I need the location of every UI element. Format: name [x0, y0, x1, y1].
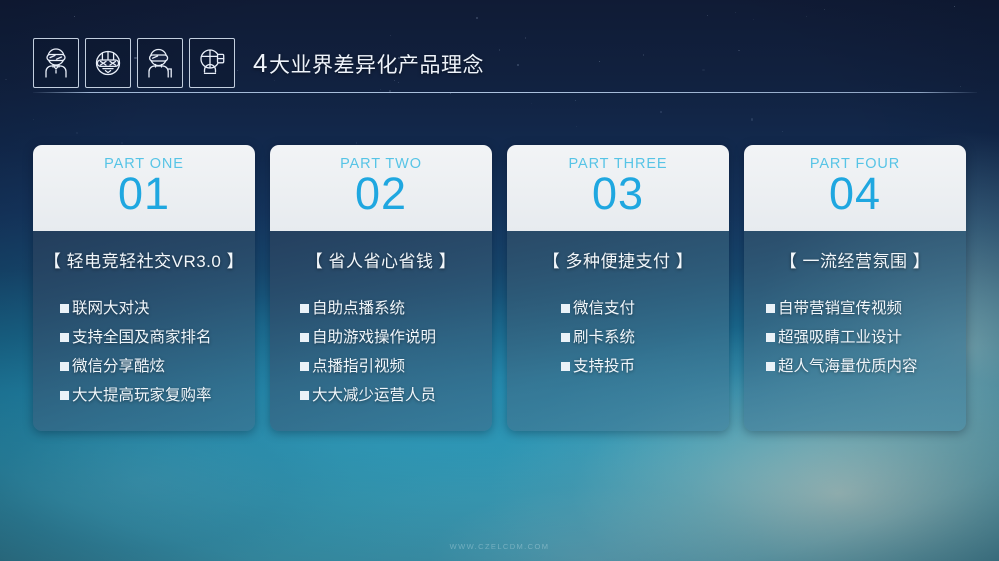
list-item: 自带营销宣传视频: [766, 294, 966, 323]
bullet-square-icon: [766, 362, 775, 371]
card-body-4: 【 一流经营氛围 】 自带营销宣传视频 超强吸睛工业设计 超人气海量优质内容: [744, 231, 966, 431]
card-header-3: PART THREE 03: [507, 145, 729, 231]
bullet-text: 点播指引视频: [312, 352, 405, 381]
card-title: 【 一流经营氛围 】: [744, 247, 966, 272]
bullet-square-icon: [766, 333, 775, 342]
feature-card-2[interactable]: PART TWO 02 【 省人省心省钱 】 自助点播系统 自助游戏操作说明 点…: [270, 145, 492, 431]
bullet-text: 微信分享酷炫: [72, 352, 165, 381]
page-title-number: 4: [253, 48, 268, 78]
list-item: 微信支付: [561, 294, 729, 323]
list-item: 刷卡系统: [561, 323, 729, 352]
bullet-text: 大大提高玩家复购率: [72, 381, 212, 410]
vr-goggles-face-icon: [85, 38, 131, 88]
bullet-text: 超强吸睛工业设计: [778, 323, 902, 352]
list-item: 大大提高玩家复购率: [60, 381, 255, 410]
bullet-square-icon: [561, 362, 570, 371]
bullet-square-icon: [300, 362, 309, 371]
bullet-square-icon: [561, 304, 570, 313]
list-item: 点播指引视频: [300, 352, 492, 381]
card-body-1: 【 轻电竞轻社交VR3.0 】 联网大对决 支持全国及商家排名 微信分享酷炫 大…: [33, 231, 255, 431]
vr-headset-person-icon: [33, 38, 79, 88]
card-bullet-list: 自助点播系统 自助游戏操作说明 点播指引视频 大大减少运营人员: [270, 294, 492, 410]
feature-cards: PART ONE 01 【 轻电竞轻社交VR3.0 】 联网大对决 支持全国及商…: [33, 145, 966, 431]
bullet-square-icon: [300, 391, 309, 400]
feature-card-1[interactable]: PART ONE 01 【 轻电竞轻社交VR3.0 】 联网大对决 支持全国及商…: [33, 145, 255, 431]
header-divider: [33, 92, 977, 93]
feature-card-4[interactable]: PART FOUR 04 【 一流经营氛围 】 自带营销宣传视频 超强吸睛工业设…: [744, 145, 966, 431]
bullet-text: 支持投币: [573, 352, 635, 381]
vr-headset-side-icon: [189, 38, 235, 88]
list-item: 微信分享酷炫: [60, 352, 255, 381]
part-number: 03: [592, 171, 644, 217]
list-item: 联网大对决: [60, 294, 255, 323]
watermark: WWW.CZELCDM.COM: [0, 542, 999, 551]
list-item: 支持全国及商家排名: [60, 323, 255, 352]
vr-headset-user-icon: [137, 38, 183, 88]
card-title: 【 多种便捷支付 】: [507, 247, 729, 272]
card-header-4: PART FOUR 04: [744, 145, 966, 231]
part-number: 04: [829, 171, 881, 217]
bullet-text: 联网大对决: [72, 294, 150, 323]
bullet-text: 大大减少运营人员: [312, 381, 436, 410]
card-title: 【 省人省心省钱 】: [270, 247, 492, 272]
bullet-square-icon: [60, 304, 69, 313]
card-bullet-list: 联网大对决 支持全国及商家排名 微信分享酷炫 大大提高玩家复购率: [33, 294, 255, 410]
bullet-text: 支持全国及商家排名: [72, 323, 212, 352]
bullet-text: 超人气海量优质内容: [778, 352, 918, 381]
bullet-text: 微信支付: [573, 294, 635, 323]
card-body-3: 【 多种便捷支付 】 微信支付 刷卡系统 支持投币: [507, 231, 729, 431]
card-bullet-list: 微信支付 刷卡系统 支持投币: [507, 294, 729, 381]
card-bullet-list: 自带营销宣传视频 超强吸睛工业设计 超人气海量优质内容: [744, 294, 966, 381]
bullet-square-icon: [60, 362, 69, 371]
card-body-2: 【 省人省心省钱 】 自助点播系统 自助游戏操作说明 点播指引视频 大大减少运营…: [270, 231, 492, 431]
list-item: 超人气海量优质内容: [766, 352, 966, 381]
list-item: 大大减少运营人员: [300, 381, 492, 410]
list-item: 支持投币: [561, 352, 729, 381]
list-item: 超强吸睛工业设计: [766, 323, 966, 352]
bullet-text: 自助游戏操作说明: [312, 323, 436, 352]
bullet-text: 刷卡系统: [573, 323, 635, 352]
part-number: 01: [118, 171, 170, 217]
bullet-square-icon: [60, 333, 69, 342]
bullet-square-icon: [766, 304, 775, 313]
page-title-text: 大业界差异化产品理念: [269, 54, 484, 77]
list-item: 自助点播系统: [300, 294, 492, 323]
list-item: 自助游戏操作说明: [300, 323, 492, 352]
card-header-1: PART ONE 01: [33, 145, 255, 231]
card-title: 【 轻电竞轻社交VR3.0 】: [33, 247, 255, 272]
part-number: 02: [355, 171, 407, 217]
card-header-2: PART TWO 02: [270, 145, 492, 231]
slide-canvas: 4大业界差异化产品理念 PART ONE 01 【 轻电竞轻社交VR3.0 】 …: [0, 0, 999, 561]
bullet-square-icon: [300, 304, 309, 313]
bullet-text: 自带营销宣传视频: [778, 294, 902, 323]
slide-header: 4大业界差异化产品理念: [33, 38, 484, 88]
bullet-square-icon: [60, 391, 69, 400]
page-title: 4大业界差异化产品理念: [253, 48, 484, 79]
bullet-text: 自助点播系统: [312, 294, 405, 323]
bullet-square-icon: [300, 333, 309, 342]
bullet-square-icon: [561, 333, 570, 342]
feature-card-3[interactable]: PART THREE 03 【 多种便捷支付 】 微信支付 刷卡系统 支持投币: [507, 145, 729, 431]
